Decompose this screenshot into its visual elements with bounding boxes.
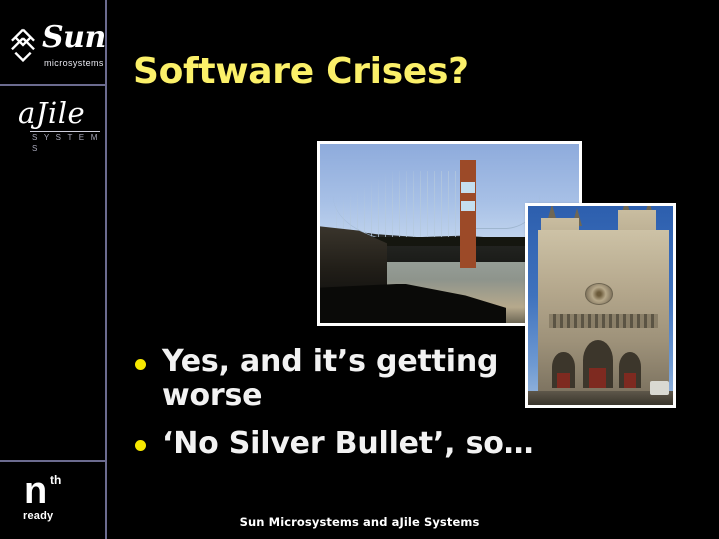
nth-letter: n	[24, 472, 47, 510]
sun-wordmark: Sun	[42, 23, 106, 53]
sidebar-vertical-divider	[105, 0, 107, 539]
ajile-tagline: S Y S T E M S	[32, 132, 104, 154]
bullet-text: ‘No Silver Bullet’, so…	[162, 427, 560, 461]
nth-superscript: th	[50, 474, 61, 486]
list-item: Yes, and it’s getting worse	[130, 345, 560, 413]
cathedral-statue-gallery	[549, 314, 659, 329]
cathedral-portal	[619, 352, 641, 387]
bullet-list: Yes, and it’s getting worse ‘No Silver B…	[130, 345, 560, 475]
presentation-slide: Sun microsystems aJile S Y S T E M S n t…	[0, 0, 719, 539]
cathedral-door	[624, 373, 636, 388]
sun-diamond-icon	[6, 28, 40, 62]
cathedral-rose-window	[585, 283, 613, 305]
slide-footer: Sun Microsystems and aJile Systems	[0, 515, 719, 529]
cathedral-portal	[583, 340, 613, 388]
bridge-tower-crossbeam	[460, 160, 476, 165]
sun-microsystems-logo: Sun microsystems	[4, 22, 104, 78]
cathedral-parked-car	[650, 381, 669, 395]
ajile-wordmark: aJile	[18, 98, 85, 129]
bridge-near-tower	[460, 164, 476, 268]
bullet-text: Yes, and it’s getting worse	[162, 345, 560, 413]
sun-tagline: microsystems	[44, 58, 104, 68]
sidebar-divider-bottom	[0, 460, 107, 462]
sidebar-divider-top	[0, 84, 107, 86]
slide-title: Software Crises?	[133, 51, 469, 93]
bullet-dot-icon	[135, 440, 146, 451]
cathedral-door	[589, 368, 606, 388]
bullet-dot-icon	[135, 359, 146, 370]
list-item: ‘No Silver Bullet’, so…	[130, 427, 560, 461]
ajile-systems-logo: aJile S Y S T E M S	[12, 98, 104, 146]
